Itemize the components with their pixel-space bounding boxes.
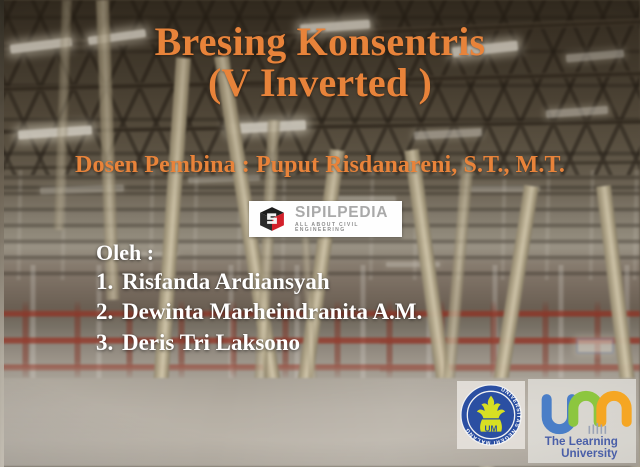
sipilpedia-tagline: ALL ABOUT CIVIL ENGINEERING: [295, 223, 402, 233]
title-line-2: (V Inverted ): [0, 63, 640, 104]
sipilpedia-logo: SIPILPEDIA ALL ABOUT CIVIL ENGINEERING: [249, 201, 402, 237]
um-wordmark-icon: The Learning University: [532, 383, 632, 460]
authors-heading: Oleh :: [96, 238, 422, 267]
slide-title: Bresing Konsentris (V Inverted ): [0, 22, 640, 104]
sipilpedia-wordmark: SIPILPEDIA ALL ABOUT CIVIL ENGINEERING: [295, 205, 402, 234]
slide-content: Bresing Konsentris (V Inverted ) Dosen P…: [0, 0, 640, 467]
list-item: 1.Risfanda Ardiansyah: [96, 267, 422, 297]
svg-text:University: University: [561, 447, 618, 460]
author-number: 2.: [96, 297, 122, 327]
sipilpedia-name: SIPILPEDIA: [295, 205, 402, 221]
um-seal-icon: UNIVERSITAS NEGERI MALANG UM: [459, 383, 523, 447]
author-number: 3.: [96, 328, 122, 358]
authors-list: 1.Risfanda Ardiansyah 2.Dewinta Marheind…: [96, 267, 422, 358]
author-number: 1.: [96, 267, 122, 297]
author-name: Dewinta Marheindranita A.M.: [122, 299, 422, 324]
svg-text:UM: UM: [485, 424, 498, 434]
author-name: Risfanda Ardiansyah: [122, 269, 330, 294]
author-name: Deris Tri Laksono: [122, 330, 300, 355]
presentation-slide: Bresing Konsentris (V Inverted ) Dosen P…: [0, 0, 640, 467]
cube-icon: [258, 205, 286, 233]
list-item: 3.Deris Tri Laksono: [96, 328, 422, 358]
um-learning-university-logo: The Learning University: [528, 379, 636, 463]
svg-text:The Learning: The Learning: [545, 435, 618, 448]
authors-block: Oleh : 1.Risfanda Ardiansyah 2.Dewinta M…: [96, 238, 422, 358]
title-line-1: Bresing Konsentris: [155, 19, 486, 64]
um-seal-logo: UNIVERSITAS NEGERI MALANG UM: [457, 381, 525, 449]
list-item: 2.Dewinta Marheindranita A.M.: [96, 297, 422, 327]
supervisor-line: Dosen Pembina : Puput Risdanareni, S.T.,…: [0, 152, 640, 179]
